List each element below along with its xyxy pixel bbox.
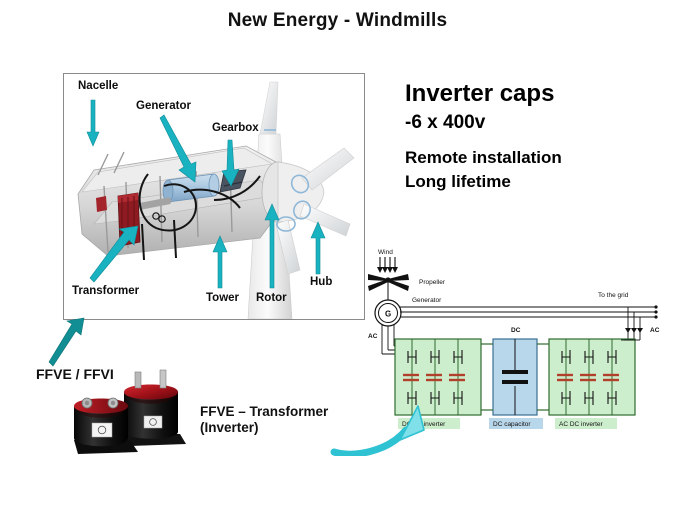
ffve-transformer-caption: FFVE – Transformer (Inverter) [200, 404, 328, 436]
circuit-label-ac-left: AC [368, 333, 378, 340]
circuit-label-dc: DC [511, 327, 521, 334]
page-title: New Energy - Windmills [0, 10, 675, 32]
inverter-caps-spec: -6 x 400v [405, 112, 485, 134]
callout-label-transformer: Transformer [72, 285, 139, 297]
callout-label-gearbox: Gearbox [212, 122, 259, 134]
block-label-dc-capacitor: DC capacitor [493, 421, 531, 428]
callout-label-nacelle: Nacelle [78, 80, 118, 92]
feature-long-lifetime: Long lifetime [405, 172, 511, 192]
circuit-label-ac-right: AC [650, 327, 660, 334]
circuit-label-propeller: Propeller [419, 279, 446, 286]
callout-label-hub: Hub [310, 276, 332, 288]
windmill-photo-panel: Nacelle Generator Gearbox Transformer To… [63, 73, 365, 320]
circuit-label-to-the-grid: To the grid [598, 292, 629, 299]
circuit-label-wind: Wind [378, 249, 393, 256]
callout-label-rotor: Rotor [256, 292, 287, 304]
slide-root: New Energy - Windmills [0, 0, 675, 506]
circuit-label-generator: Generator [412, 297, 442, 304]
ffve-transformer-caption-line1: FFVE – Transformer [200, 404, 328, 420]
capacitor-product-photo [58, 368, 193, 460]
feature-remote-installation: Remote installation [405, 148, 562, 168]
ffve-to-inverter-arrow-icon [330, 400, 440, 456]
circuit-label-generator-symbol: G [385, 310, 391, 319]
callout-label-generator: Generator [136, 100, 191, 112]
callout-label-tower: Tower [206, 292, 239, 304]
ffve-transformer-caption-line2: (Inverter) [200, 420, 328, 436]
inverter-caps-heading: Inverter caps [405, 80, 554, 108]
ffve-to-photo-arrow-icon [44, 316, 104, 370]
block-label-ac-dc-inverter: AC DC inverter [559, 421, 604, 428]
